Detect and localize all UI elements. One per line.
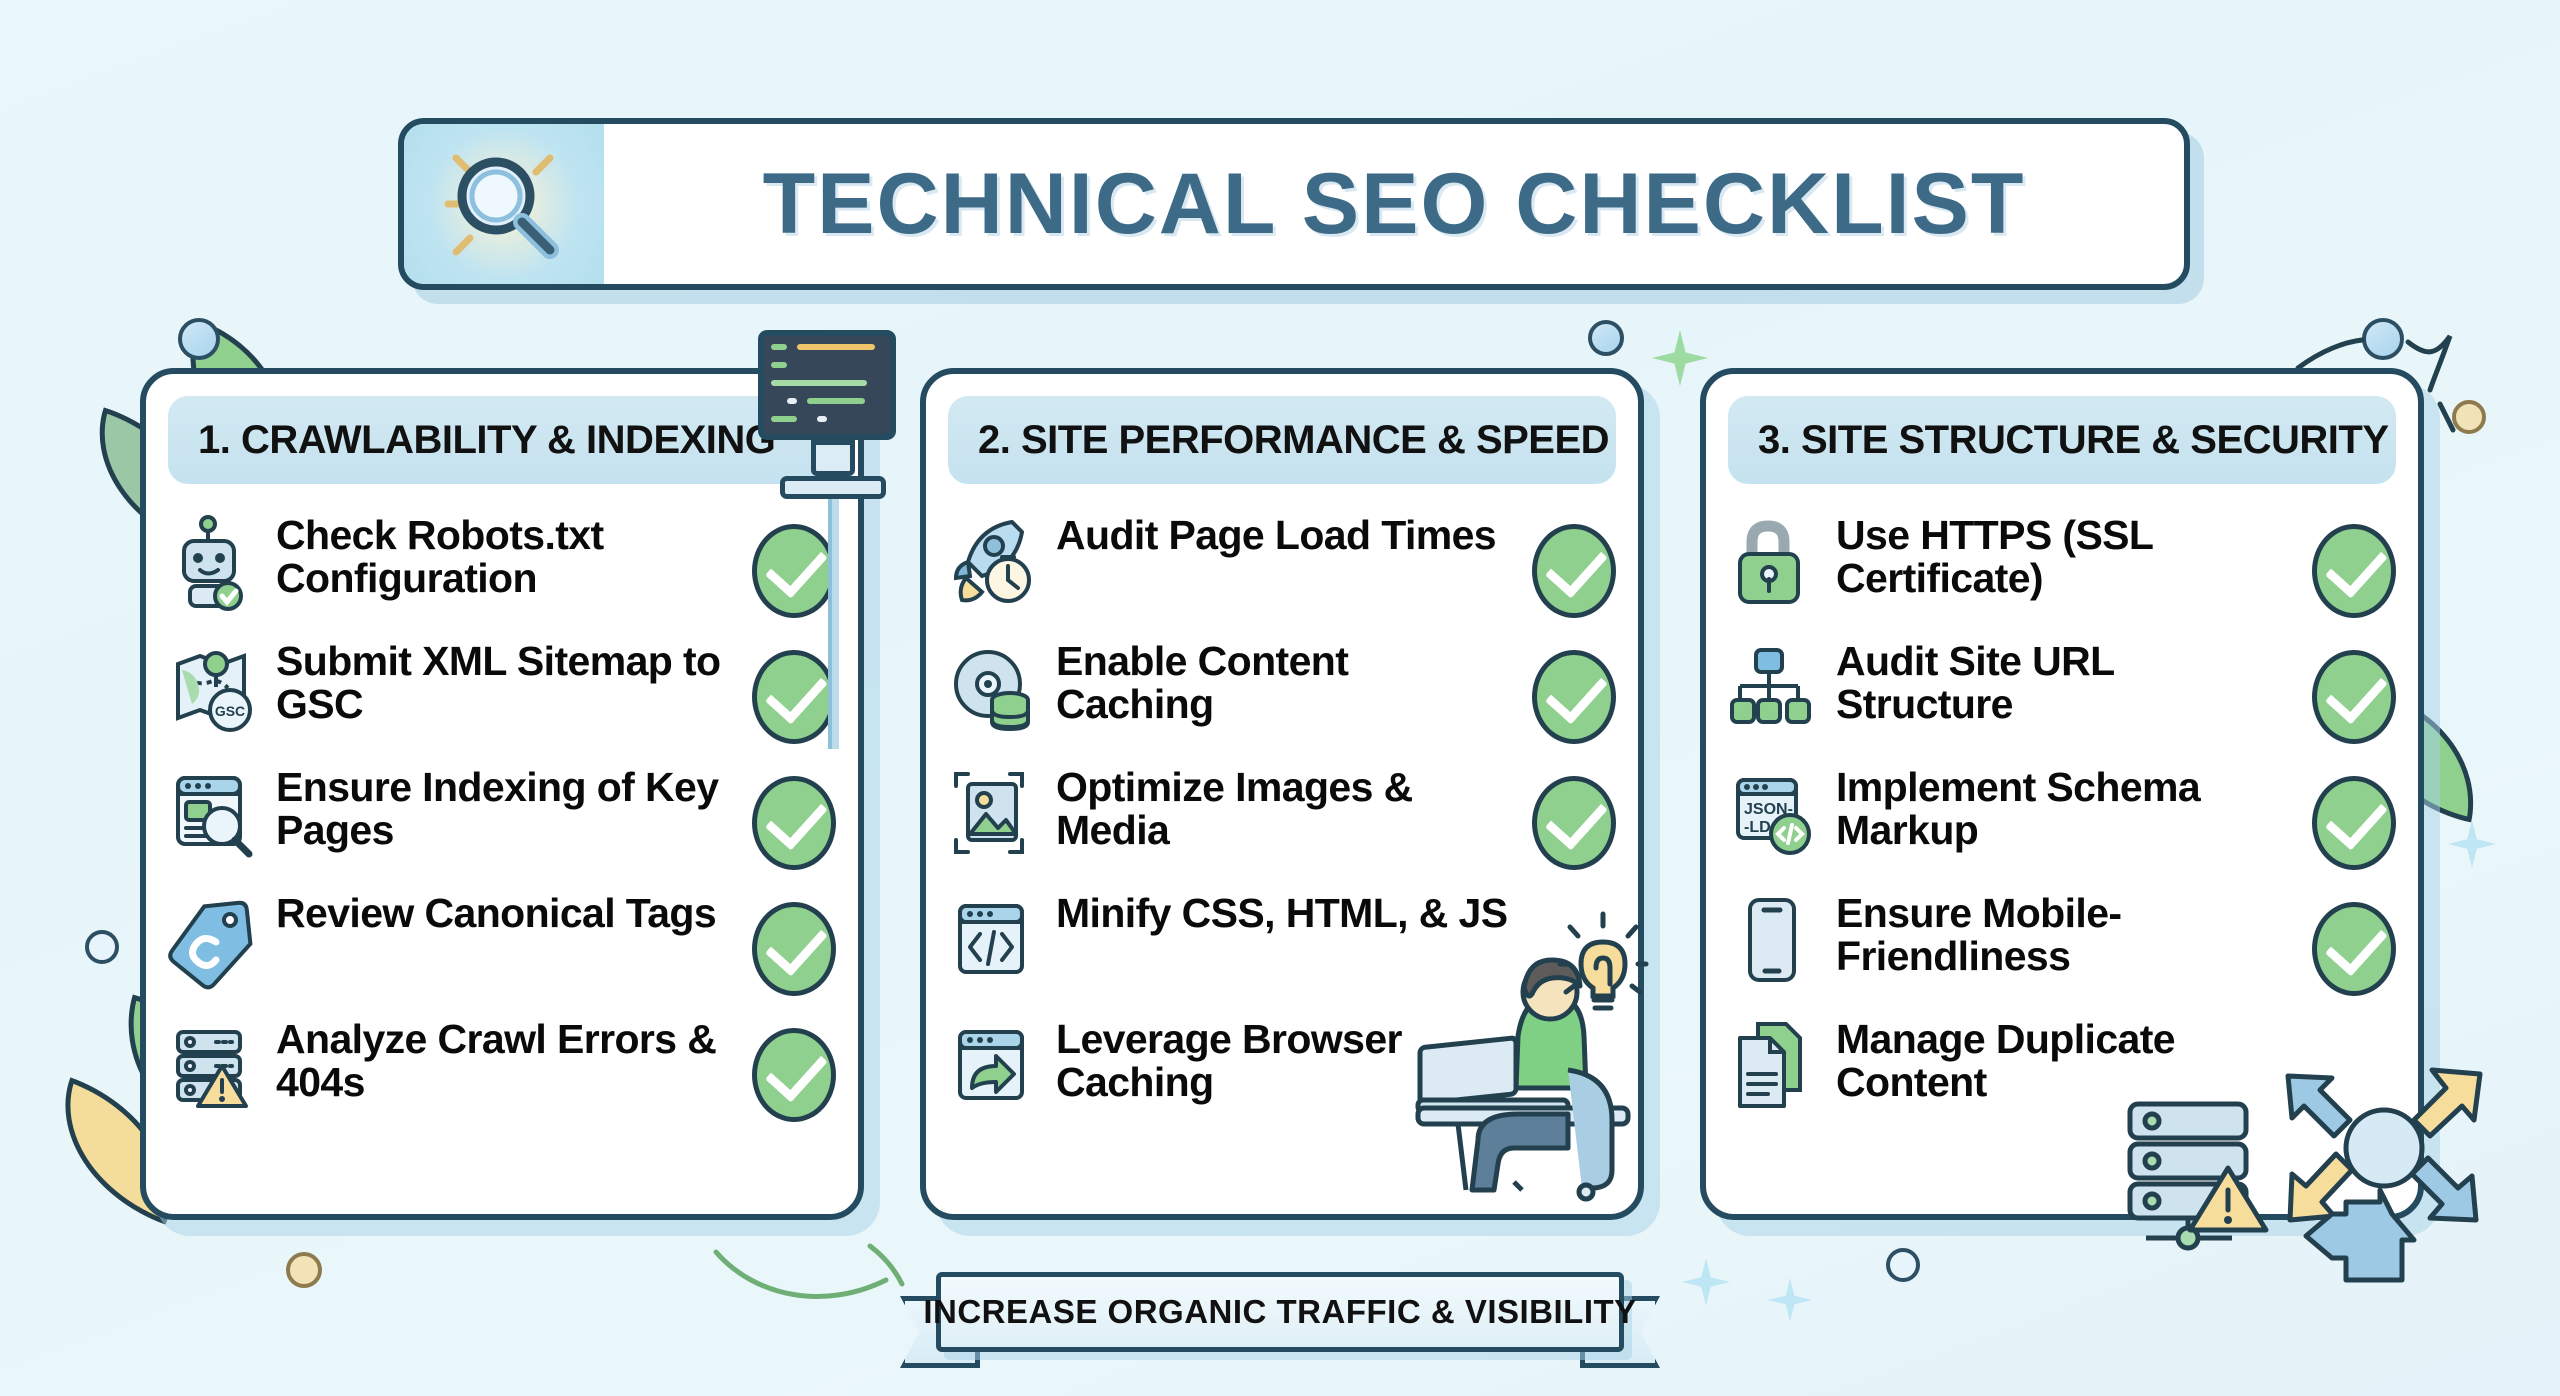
magnifying-glass-icon (404, 124, 604, 284)
checklist-card-crawlability: 1. CRAWLABILITY & INDEXING Check Robots.… (140, 368, 864, 1220)
status-check-icon[interactable] (2312, 776, 2396, 870)
status-check-icon[interactable] (752, 776, 836, 870)
list-item-label: Enable Content Caching (1056, 636, 1514, 727)
map-pin-gsc-icon: GSC (172, 642, 258, 734)
code-browser-icon (952, 894, 1038, 986)
status-check-icon[interactable] (2312, 650, 2396, 744)
svg-text:GSC: GSC (215, 703, 245, 719)
status-check-icon[interactable] (2312, 902, 2396, 996)
browser-arrow-icon (952, 1020, 1038, 1112)
sitemap-tree-icon (1732, 642, 1818, 734)
dot-decoration (85, 930, 119, 964)
page-title: TECHNICAL SEO CHECKLIST (604, 124, 2184, 284)
sparkle-decoration (1768, 1278, 1812, 1322)
list-item[interactable]: Review Canonical Tags (172, 888, 836, 1000)
rocket-stopwatch-icon (952, 516, 1038, 608)
list-item-label: Check Robots.txt Configuration (276, 510, 734, 601)
disc-database-icon (952, 642, 1038, 734)
list-item[interactable]: Ensure Mobile-Friendliness (1732, 888, 2396, 1000)
card-header-2: 2. SITE PERFORMANCE & SPEED (948, 396, 1616, 484)
list-item-label: Implement Schema Markup (1836, 762, 2294, 853)
server-warning-icon (172, 1020, 258, 1112)
lightbulb-icon (1560, 912, 1646, 1022)
sparkle-decoration (2448, 820, 2496, 868)
browser-search-icon (172, 768, 258, 860)
list-item-label: Optimize Images & Media (1056, 762, 1514, 853)
list-item-label: Use HTTPS (SSL Certificate) (1836, 510, 2294, 601)
list-item[interactable]: Audit Page Load Times (952, 510, 1616, 622)
status-check-icon[interactable] (752, 650, 836, 744)
status-check-icon[interactable] (752, 1028, 836, 1122)
list-item[interactable]: Enable Content Caching (952, 636, 1616, 748)
status-check-icon[interactable] (752, 902, 836, 996)
list-item-label: Ensure Indexing of Key Pages (276, 762, 734, 853)
padlock-icon (1732, 516, 1818, 608)
status-check-icon[interactable] (1532, 776, 1616, 870)
ribbon-banner: INCREASE ORGANIC TRAFFIC & VISIBILITY (900, 1272, 1660, 1350)
page-title-bar: TECHNICAL SEO CHECKLIST (398, 118, 2190, 290)
image-resize-icon (952, 768, 1038, 860)
dot-decoration (178, 318, 220, 360)
multi-direction-arrows-illustration (2280, 1068, 2500, 1298)
monitor-screen (758, 330, 896, 440)
card-header-3: 3. SITE STRUCTURE & SECURITY (1728, 396, 2396, 484)
list-item-label: Manage Duplicate Content (1836, 1014, 2294, 1105)
server-stack-warning-illustration (2120, 1098, 2290, 1248)
checklist-items-3: Use HTTPS (SSL Certificate) Audit Site U… (1706, 484, 2418, 1126)
svg-text:-LD: -LD (1744, 819, 1771, 836)
robot-icon (172, 516, 258, 608)
list-item-label: Review Canonical Tags (276, 888, 734, 935)
dot-decoration (1886, 1248, 1920, 1282)
json-ld-icon: JSON- -LD (1732, 768, 1818, 860)
list-item-label: Submit XML Sitemap to GSC (276, 636, 734, 727)
ribbon-label: INCREASE ORGANIC TRAFFIC & VISIBILITY (936, 1272, 1624, 1352)
list-item-label: Minify CSS, HTML, & JS (1056, 888, 1514, 935)
status-check-icon[interactable] (752, 524, 836, 618)
list-item[interactable]: Use HTTPS (SSL Certificate) (1732, 510, 2396, 622)
dot-decoration (2362, 318, 2404, 360)
list-item-label: Audit Page Load Times (1056, 510, 1514, 557)
status-check-icon[interactable] (1532, 650, 1616, 744)
card-header-1: 1. CRAWLABILITY & INDEXING (168, 396, 836, 484)
smartphone-icon (1732, 894, 1818, 986)
duplicate-documents-icon (1732, 1020, 1818, 1112)
dot-decoration (1588, 320, 1624, 356)
list-item[interactable]: GSC Submit XML Sitemap to GSC (172, 636, 836, 748)
list-item-label: Ensure Mobile-Friendliness (1836, 888, 2294, 979)
list-item[interactable]: Optimize Images & Media (952, 762, 1616, 874)
sparkle-decoration (1652, 330, 1708, 386)
list-item-label: Analyze Crawl Errors & 404s (276, 1014, 734, 1105)
dot-decoration (286, 1252, 322, 1288)
sparkle-decoration (1682, 1258, 1730, 1306)
list-item[interactable]: Analyze Crawl Errors & 404s (172, 1014, 836, 1126)
code-monitor-illustration (758, 330, 908, 505)
status-check-icon[interactable] (2312, 524, 2396, 618)
list-item[interactable]: Ensure Indexing of Key Pages (172, 762, 836, 874)
list-item[interactable]: JSON- -LD Implement Schema Markup (1732, 762, 2396, 874)
dot-decoration (2452, 400, 2486, 434)
canonical-tag-icon (172, 894, 258, 986)
list-item[interactable]: Check Robots.txt Configuration (172, 510, 836, 622)
list-item[interactable]: Audit Site URL Structure (1732, 636, 2396, 748)
checklist-items-1: Check Robots.txt Configuration GSC Submi… (146, 484, 858, 1126)
list-item-label: Audit Site URL Structure (1836, 636, 2294, 727)
status-check-icon[interactable] (1532, 524, 1616, 618)
